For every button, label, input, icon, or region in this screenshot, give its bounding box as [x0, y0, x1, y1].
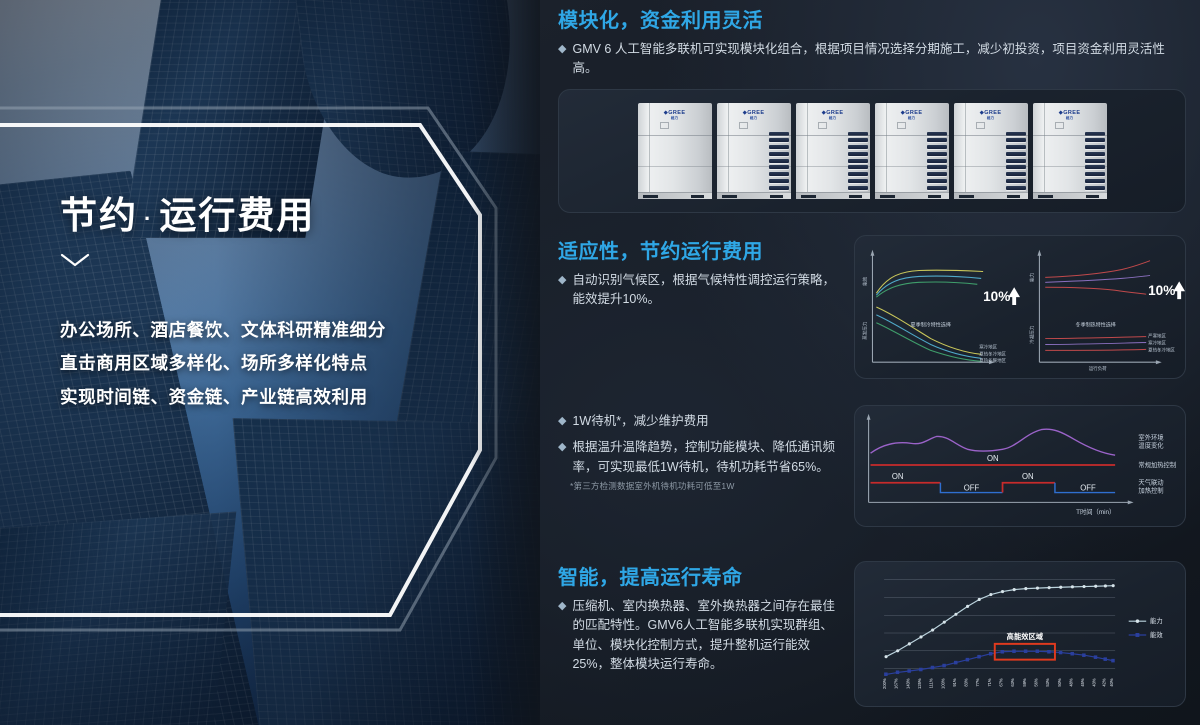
unit-vent: [818, 122, 827, 129]
axis-label-cond-pressure: 冷凝压力: [1029, 325, 1036, 344]
tick-label: 111%: [929, 678, 934, 688]
axis-label-efficiency: 能效: [862, 276, 869, 286]
smart-text: 智能，提高运行寿命 ◆ 压缩机、室内换热器、室外换热器之间存在最佳的匹配特性。G…: [558, 561, 840, 707]
unit-vent: [739, 122, 748, 129]
tick-label: 77%: [975, 678, 980, 687]
tick-label: 91%: [952, 678, 957, 687]
hero-panel: 节约·运行费用 办公场所、酒店餐饮、文体科研精准细分 直击商用区域多样化、场所多…: [0, 0, 540, 725]
legend-item: 寒冷地区: [1148, 339, 1166, 346]
legend-outdoor-temp-2: 温度变化: [1138, 440, 1164, 449]
climate-charts-svg: 能效 蒸发压力 夏季制冷特性选择 10%: [855, 236, 1185, 378]
unit-fins: [848, 132, 868, 190]
legend-winter: 严寒地区 寒冷地区 夏热冬冷地区: [1148, 332, 1175, 353]
bullet-modular: ◆ GMV 6 人工智能多联机可实现模块化组合，根据项目情况选择分期施工，减少初…: [558, 40, 1186, 79]
axis-label-load: 运行负荷: [1089, 365, 1107, 372]
state-label-off-2: OFF: [1080, 483, 1096, 492]
x-axis-tick-labels: 200% 167% 143% 125% 111% 100% 91% 83% 77…: [882, 678, 1114, 689]
gree-logo: ◆GREE格力: [664, 110, 686, 121]
gree-logo: ◆GREE格力: [901, 110, 923, 121]
unit-vent: [660, 122, 669, 129]
chart-climate-winter: 能力 冷凝压力 运行负荷 冬季制热特性选择 10%: [1029, 250, 1185, 372]
tick-label: 83%: [964, 678, 969, 687]
tick-label: 40%: [1109, 678, 1114, 687]
bullet-adaptive: ◆ 自动识别气候区，根据气候特性调控运行策略，能效提升10%。: [558, 271, 840, 310]
poster-page: 节约·运行费用 办公场所、酒店餐饮、文体科研精准细分 直击商用区域多样化、场所多…: [0, 0, 1200, 725]
outdoor-unit: ◆GREE格力: [717, 103, 791, 199]
standby-chart-svg: T时间（min） 室外环境 温度变化 ON 常规加热控制 ON OFF ON: [855, 406, 1185, 526]
tick-label: 63%: [1010, 678, 1015, 687]
chart-climate-summer: 能效 蒸发压力 夏季制冷特性选择 10%: [862, 250, 1020, 364]
unit-fins: [1006, 132, 1026, 190]
tick-label: 56%: [1034, 678, 1039, 687]
tick-label: 42%: [1101, 678, 1106, 687]
state-label-on-2: ON: [1022, 471, 1034, 480]
gree-logo: ◆GREE格力: [743, 110, 765, 121]
bullet-text: 压缩机、室内换热器、室外换热器之间存在最佳的匹配特性。GMV6人工智能多联机实现…: [572, 597, 840, 675]
hero-title: 节约·运行费用: [60, 195, 490, 238]
tick-label: 53%: [1045, 678, 1050, 687]
tick-label: 200%: [882, 678, 887, 689]
annotation-10-percent-summer: 10%: [983, 289, 1010, 304]
legend-weather-linked-1: 天气联动: [1138, 477, 1163, 486]
legend-item-efficiency: 能效: [1150, 630, 1163, 639]
tick-label: 67%: [999, 678, 1004, 687]
hero-title-sub: 运行费用: [159, 195, 315, 236]
axis-label-capacity: 能力: [1029, 272, 1036, 282]
climate-chart-container: 能效 蒸发压力 夏季制冷特性选择 10%: [854, 235, 1186, 379]
section-title-adaptive: 适应性，节约运行费用: [558, 235, 840, 264]
legend-life: 能力 能效: [1129, 616, 1164, 639]
standby-text: ◆ 1W待机*，减少维护费用 ◆ 根据温升温降趋势，控制功能模块、降低通讯频率，…: [558, 405, 840, 527]
legend-item: 严寒地区: [1148, 332, 1166, 339]
annotation-high-efficiency-zone: 高能效区域: [1007, 632, 1044, 641]
tick-label: 50%: [1057, 678, 1062, 687]
outdoor-unit: ◆GREE格力: [796, 103, 870, 199]
climate-charts-panel: 能效 蒸发压力 夏季制冷特性选择 10%: [854, 235, 1186, 379]
bullet-diamond-icon: ◆: [558, 412, 566, 431]
legend-item-capacity: 能力: [1150, 616, 1163, 625]
section-smart: 智能，提高运行寿命 ◆ 压缩机、室内换热器、室外换热器之间存在最佳的匹配特性。G…: [558, 561, 1186, 707]
bullet-diamond-icon: ◆: [558, 597, 566, 675]
section-title-smart: 智能，提高运行寿命: [558, 561, 840, 590]
hero-sub-line: 办公场所、酒店餐饮、文体科研精准细分: [60, 314, 490, 348]
bullet-text: 根据温升温降趋势，控制功能模块、降低通讯频率，可实现最低1W待机，待机功耗节省6…: [572, 438, 840, 477]
state-label-on-conventional: ON: [987, 454, 999, 463]
bullet-diamond-icon: ◆: [558, 271, 566, 310]
standby-chart-container: T时间（min） 室外环境 温度变化 ON 常规加热控制 ON OFF ON: [854, 405, 1186, 527]
chart-caption-winter: 冬季制热特性选择: [1076, 321, 1116, 328]
tick-label: 48%: [1068, 678, 1073, 687]
outdoor-unit: ◆GREE格力: [638, 103, 712, 199]
tick-label: 45%: [1080, 678, 1085, 687]
bullet-diamond-icon: ◆: [558, 438, 566, 477]
hero-subtitle: 办公场所、酒店餐饮、文体科研精准细分 直击商用区域多样化、场所多样化特点 实现时…: [60, 314, 490, 415]
bullet-standby-2: ◆ 根据温升温降趋势，控制功能模块、降低通讯频率，可实现最低1W待机，待机功耗节…: [558, 438, 840, 477]
unit-fins: [927, 132, 947, 190]
bullet-text: 自动识别气候区，根据气候特性调控运行策略，能效提升10%。: [572, 271, 840, 310]
outdoor-unit: ◆GREE格力: [1033, 103, 1107, 199]
annotation-10-percent-winter: 10%: [1148, 283, 1175, 298]
legend-item: 夏热冬暖地区: [979, 357, 1006, 364]
legend-item: 夏热冬冷地区: [979, 350, 1006, 357]
tick-label: 100%: [940, 678, 945, 689]
bullet-text: 1W待机*，减少维护费用: [572, 412, 708, 431]
bullet-diamond-icon: ◆: [558, 40, 566, 79]
capacity-markers: [885, 584, 1115, 658]
outdoor-unit: ◆GREE格力: [875, 103, 949, 199]
hero-content: 节约·运行费用 办公场所、酒店餐饮、文体科研精准细分 直击商用区域多样化、场所多…: [60, 195, 490, 414]
chevron-down-icon: [60, 252, 90, 270]
content-panel: 模块化，资金利用灵活 ◆ GMV 6 人工智能多联机可实现模块化组合，根据项目情…: [540, 0, 1200, 725]
life-chart-panel: 高能效区域 200% 167% 143% 125% 111% 100% 91% …: [854, 561, 1186, 707]
bullet-text: GMV 6 人工智能多联机可实现模块化组合，根据项目情况选择分期施工，减少初投资…: [572, 40, 1186, 79]
unit-vent: [976, 122, 985, 129]
legend-conventional-heating: 常规加热控制: [1138, 460, 1176, 469]
section-adaptive: 适应性，节约运行费用 ◆ 自动识别气候区，根据气候特性调控运行策略，能效提升10…: [558, 235, 1186, 379]
tick-label: 59%: [1022, 678, 1027, 687]
hero-sub-line: 直击商用区域多样化、场所多样化特点: [60, 347, 490, 381]
gree-logo: ◆GREE格力: [1059, 110, 1081, 121]
legend-outdoor-temp-1: 室外环境: [1138, 432, 1164, 441]
unit-fins: [769, 132, 789, 190]
legend-item: 夏热冬冷地区: [1148, 346, 1175, 353]
hero-edge-fade: [470, 0, 540, 725]
section-modular: 模块化，资金利用灵活 ◆ GMV 6 人工智能多联机可实现模块化组合，根据项目情…: [558, 0, 1186, 213]
section-title-modular: 模块化，资金利用灵活: [558, 4, 1186, 33]
gree-logo: ◆GREE格力: [822, 110, 844, 121]
legend-item: 寒冷地区: [979, 343, 997, 350]
tick-label: 125%: [917, 678, 922, 689]
axis-label-time: T时间（min）: [1076, 507, 1115, 516]
life-chart-container: 高能效区域 200% 167% 143% 125% 111% 100% 91% …: [854, 561, 1186, 707]
legend-summer: 寒冷地区 夏热冬冷地区 夏热冬暖地区: [979, 343, 1006, 364]
tick-label: 71%: [987, 678, 992, 687]
standby-chart-panel: T时间（min） 室外环境 温度变化 ON 常规加热控制 ON OFF ON: [854, 405, 1186, 527]
chart-caption-summer: 夏季制冷特性选择: [911, 321, 951, 328]
efficiency-markers: [884, 649, 1115, 676]
adaptive-text: 适应性，节约运行费用 ◆ 自动识别气候区，根据气候特性调控运行策略，能效提升10…: [558, 235, 840, 379]
hero-title-separator: ·: [138, 206, 159, 231]
axis-label-evap-pressure: 蒸发压力: [862, 321, 869, 340]
tick-label: 167%: [894, 678, 899, 689]
unit-fins: [1085, 132, 1105, 190]
hero-sub-line: 实现时间链、资金链、产业链高效利用: [60, 381, 490, 415]
outdoor-units-panel: ◆GREE格力 ◆GREE格力: [558, 89, 1186, 213]
legend-weather-linked-2: 加热控制: [1138, 485, 1163, 494]
standby-footnote: *第三方检测数据室外机待机功耗可低至1W: [570, 480, 840, 492]
tick-label: 43%: [1092, 678, 1097, 687]
bullet-smart: ◆ 压缩机、室内换热器、室外换热器之间存在最佳的匹配特性。GMV6人工智能多联机…: [558, 597, 840, 675]
hero-title-main: 节约: [60, 195, 138, 236]
section-standby: ◆ 1W待机*，减少维护费用 ◆ 根据温升温降趋势，控制功能模块、降低通讯频率，…: [558, 405, 1186, 527]
tick-label: 143%: [905, 678, 910, 689]
unit-vent: [897, 122, 906, 129]
state-label-off-1: OFF: [964, 483, 980, 492]
unit-vent: [1055, 122, 1064, 129]
life-chart-svg: 高能效区域 200% 167% 143% 125% 111% 100% 91% …: [855, 562, 1185, 706]
gree-logo: ◆GREE格力: [980, 110, 1002, 121]
bullet-standby-1: ◆ 1W待机*，减少维护费用: [558, 412, 840, 431]
outdoor-unit: ◆GREE格力: [954, 103, 1028, 199]
state-label-on-1: ON: [892, 471, 904, 480]
